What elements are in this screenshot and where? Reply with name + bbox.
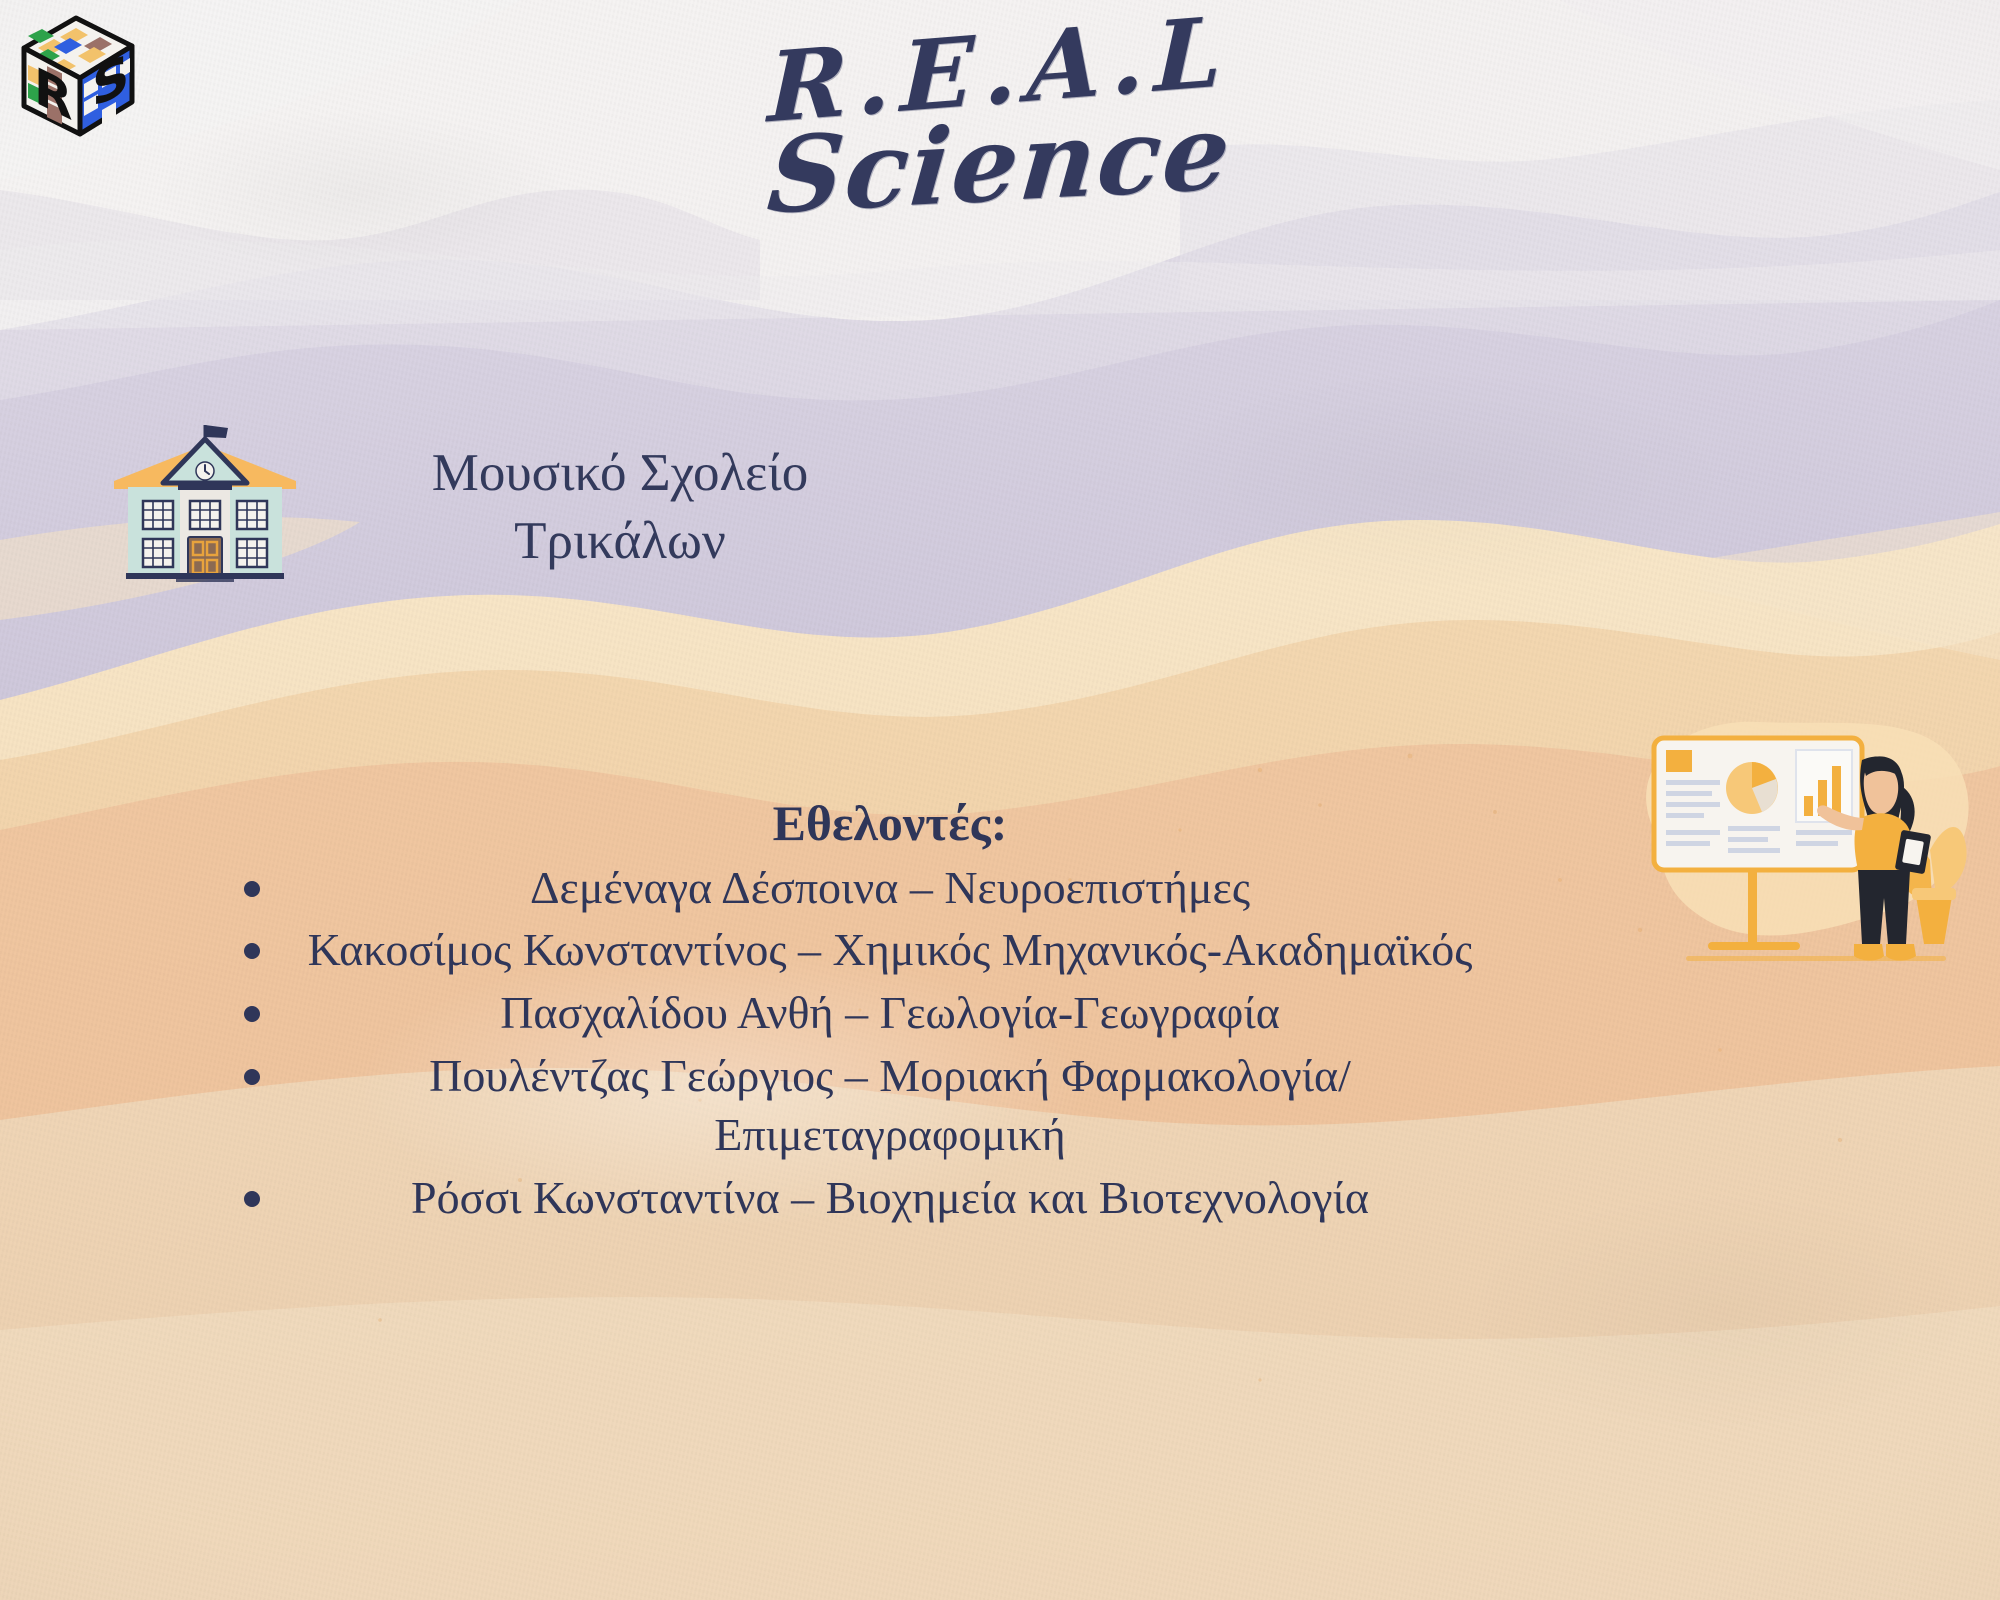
volunteer-entry: Ρόσσι Κωνσταντίνα – Βιοχημεία και Βιοτεχ… [290,1169,1490,1228]
list-item: Δεμέναγα Δέσποινα – Νευροεπιστήμες [230,859,1550,918]
volunteer-entry: Δεμέναγα Δέσποινα – Νευροεπιστήμες [290,859,1490,918]
list-item: Πασχαλίδου Ανθή – Γεωλογία-Γεωγραφία [230,984,1550,1043]
bullet-icon [244,943,260,959]
school-building-icon [100,415,310,585]
list-item: Κακοσίμος Κωνσταντίνος – Χημικός Μηχανικ… [230,921,1550,980]
bullet-icon [244,1191,260,1207]
bullet-icon [244,1006,260,1022]
title-line-science: Science [686,95,1314,232]
school-name-line2: Τρικάλων [380,508,860,576]
volunteer-entry: Κακοσίμος Κωνσταντίνος – Χημικός Μηχανικ… [290,921,1490,980]
poster-title: R.E.A.L Science [690,22,1310,216]
real-science-cube-logo[interactable]: R S [14,6,164,146]
school-name-line1: Μουσικό Σχολείο [380,440,860,508]
volunteer-entry: Πασχαλίδου Ανθή – Γεωλογία-Γεωγραφία [290,984,1490,1043]
list-item: Ρόσσι Κωνσταντίνα – Βιοχημεία και Βιοτεχ… [230,1169,1550,1228]
bullet-icon [244,881,260,897]
volunteer-entry: Πουλέντζας Γεώργιος – Μοριακή Φαρμακολογ… [290,1047,1490,1165]
list-item: Πουλέντζας Γεώργιος – Μοριακή Φαρμακολογ… [230,1047,1550,1165]
school-name: Μουσικό Σχολείο Τρικάλων [380,440,860,576]
volunteers-list: Δεμέναγα Δέσποινα – Νευροεπιστήμες Κακοσ… [230,859,1550,1228]
volunteers-heading: Εθελοντές: [230,795,1550,853]
volunteers-section: Εθελοντές: Δεμέναγα Δέσποινα – Νευροεπισ… [230,795,1550,1232]
woman-presenting-chart-illustration [1630,700,1980,1020]
bullet-icon [244,1069,260,1085]
poster-canvas: R S R.E.A.L Science [0,0,2000,1600]
